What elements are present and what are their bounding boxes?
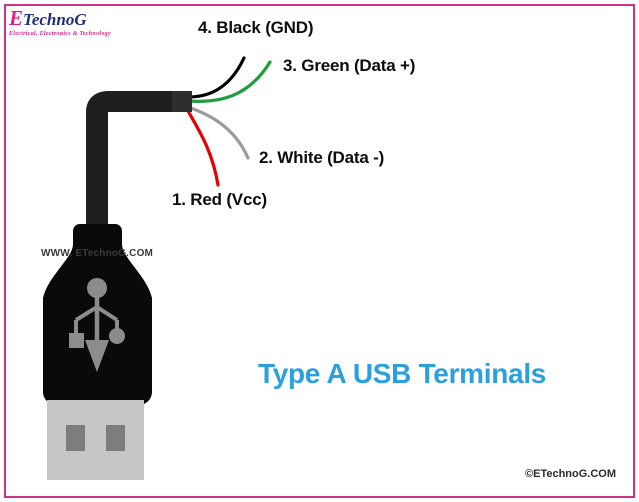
- wire-label-red: 1. Red (Vcc): [172, 190, 267, 210]
- usb-logo-square-end: [69, 333, 84, 348]
- usb-diagram-page: ETechnoG Electrical, Electronics & Techn…: [0, 0, 639, 502]
- usb-metal-shell: [47, 400, 144, 480]
- usb-logo-circle-end: [109, 328, 125, 344]
- metal-shell-body: [47, 400, 144, 480]
- wire-label-green: 3. Green (Data +): [283, 56, 415, 76]
- wire-label-black: 4. Black (GND): [198, 18, 313, 38]
- body-watermark: WWW. ETechnoG.COM: [41, 248, 153, 259]
- usb-cable: [86, 91, 192, 235]
- wire-black-path: [188, 58, 244, 97]
- copyright-note: ©ETechnoG.COM: [525, 468, 616, 480]
- metal-slot-left: [66, 425, 85, 451]
- cable-vertical-arm: [86, 91, 108, 215]
- wire-label-white: 2. White (Data -): [259, 148, 384, 168]
- wire-white-path: [188, 107, 248, 158]
- metal-slot-right: [106, 425, 125, 451]
- wire-group: [187, 58, 270, 185]
- cable-tip-block: [172, 91, 192, 112]
- diagram-title: Type A USB Terminals: [258, 358, 546, 390]
